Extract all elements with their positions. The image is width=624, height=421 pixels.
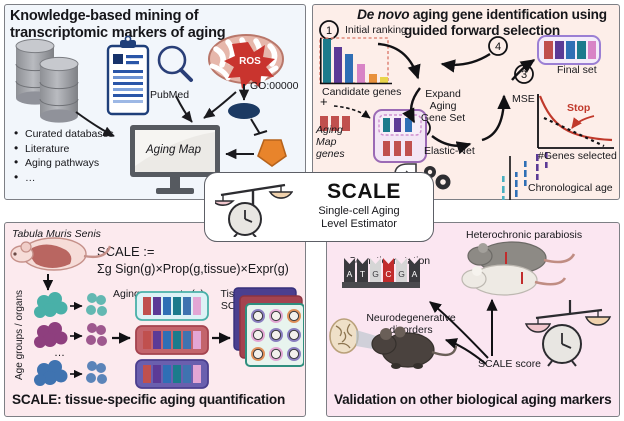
cell-cluster-group-2 (34, 322, 107, 348)
initial-ranking-label: Initial ranking (345, 24, 407, 36)
scale-subtitle-line2: Level Estimator (289, 218, 429, 231)
expand-gene-set-label-3: Gene Set (412, 112, 474, 124)
dna-base-icon: G (370, 258, 381, 282)
stop-arrow (572, 116, 594, 128)
scale-subtitle-line1: Single-cell Aging (289, 205, 429, 218)
arrow-score-to-somatic (430, 302, 488, 358)
chronological-age-axis-label: Chronological age (528, 182, 613, 194)
arrow-step1-to-expand (378, 44, 418, 78)
figure-root: Knowledge-based mining of transcriptomic… (0, 0, 624, 421)
score-card-stack (234, 288, 304, 366)
step-4-number: 4 (495, 41, 501, 53)
bottom-right-graphics: A T G C G A (328, 240, 620, 390)
clipboard-icon (108, 36, 148, 114)
svg-text:G: G (372, 269, 379, 279)
ros-label: ROS (239, 56, 261, 67)
database-stack-icon (16, 39, 78, 122)
bullet-item: Aging pathways (12, 156, 114, 171)
mouse-icon (11, 238, 110, 270)
elastic-net-label: Elastic-Net (424, 145, 475, 157)
step-1-number: 1 (326, 25, 332, 37)
balance-scale-clock-icon-validation (526, 300, 610, 366)
gene-set-chip-2 (136, 326, 208, 354)
cluster-ellipsis: … (54, 347, 65, 359)
panel-title-bottom-left: SCALE: tissue-specific aging quantificat… (12, 392, 302, 407)
svg-text:C: C (385, 269, 391, 279)
arrow-step4-to-expand (442, 54, 490, 65)
bottom-left-graphics: … (6, 230, 304, 390)
mouse-icon-dark (372, 327, 456, 370)
dna-base-icon: A (344, 258, 355, 282)
scale-subtitle: Single-cell Aging Level Estimator (289, 205, 429, 231)
svg-text:T: T (360, 269, 365, 279)
scale-title: SCALE (301, 180, 427, 204)
dna-base-row: A T G C G A (342, 258, 420, 288)
scale-central-box: SCALE Single-cell Aging Level Estimator (204, 172, 434, 242)
dna-base-icon: A (409, 258, 420, 282)
cell-cluster-group-1 (34, 292, 107, 318)
panel-title-bottom-right: Validation on other biological aging mar… (334, 392, 620, 407)
dna-base-icon: T (357, 258, 368, 282)
svg-text:G: G (398, 269, 405, 279)
gene-set-chip-3 (136, 360, 208, 388)
final-set-chip (538, 36, 600, 64)
expand-gene-set-label-1: Expand (412, 88, 474, 100)
protein-node-icon (228, 103, 260, 119)
go-term-label: GO:00000 (250, 80, 298, 92)
svg-text:A: A (412, 269, 418, 279)
bullet-item: Literature (12, 142, 114, 157)
aging-map-genes-label-3: genes (316, 148, 345, 160)
magnifier-icon (159, 47, 191, 80)
source-bullet-list: Curated databases Literature Aging pathw… (12, 127, 114, 185)
pentagon-node-icon (258, 140, 286, 166)
aging-map-genes-label-2: Map (316, 136, 336, 148)
balance-scale-clock-icon (215, 179, 293, 237)
mse-axis-label: MSE (512, 93, 535, 105)
genes-selected-axis-label: #Genes selected (538, 150, 617, 162)
final-set-label: Final set (557, 64, 597, 76)
arrow-eval-to-step3 (482, 96, 504, 140)
gene-set-chip-1 (136, 292, 208, 320)
svg-text:A: A (347, 269, 353, 279)
cell-cluster-group-3 (34, 360, 107, 386)
arrow-aging-map-to-set (334, 106, 370, 118)
stop-label: Stop (567, 102, 590, 114)
aging-map-label: Aging Map (146, 144, 201, 156)
aging-map-genes-label-1: Aging (316, 124, 343, 136)
expand-gene-set-label-2: Aging (412, 100, 474, 112)
dna-base-icon: G (396, 258, 407, 282)
dna-base-icon-mutated: C (383, 258, 394, 282)
bullet-item: Curated databases (12, 127, 114, 142)
candidate-genes-label: Candidate genes (322, 86, 401, 98)
pubmed-label: PubMed (150, 89, 189, 101)
inhibition-bar (254, 131, 267, 135)
inhibition-line (251, 119, 260, 134)
bullet-item: … (12, 171, 114, 186)
mouse-pair-icon (462, 242, 574, 295)
